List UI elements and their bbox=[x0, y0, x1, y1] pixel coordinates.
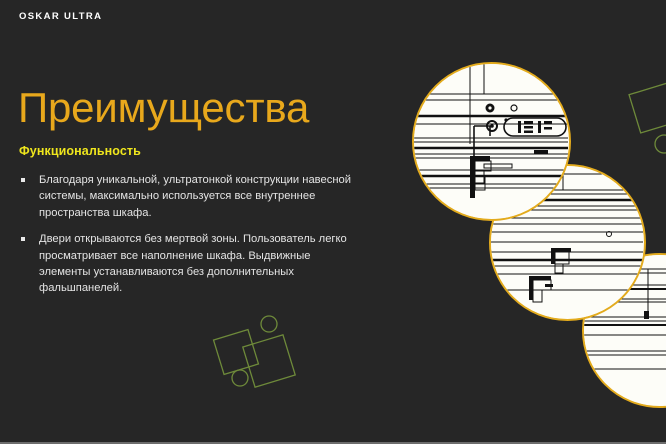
list-item-text: Двери открываются без мертвой зоны. Поль… bbox=[39, 231, 351, 297]
presentation-slide: OSKAR ULTRA Преимущества Функциональност… bbox=[0, 0, 666, 444]
feature-list: Благодаря уникальной, ультратонкой конст… bbox=[19, 172, 351, 307]
decorative-square-right-edge bbox=[616, 76, 666, 167]
decorative-squares-cluster-left bbox=[206, 306, 306, 403]
list-item: Благодаря уникальной, ультратонкой конст… bbox=[19, 172, 351, 221]
list-item-text: Благодаря уникальной, ультратонкой конст… bbox=[39, 172, 351, 221]
product-detail-circle-1 bbox=[412, 62, 571, 221]
bullet-square-icon bbox=[21, 237, 25, 241]
page-title: Преимущества bbox=[18, 86, 309, 130]
brand-logo: OSKAR ULTRA bbox=[19, 11, 102, 22]
bullet-square-icon bbox=[21, 178, 25, 182]
list-item: Двери открываются без мертвой зоны. Поль… bbox=[19, 231, 351, 297]
section-subtitle: Функциональность bbox=[19, 144, 141, 158]
